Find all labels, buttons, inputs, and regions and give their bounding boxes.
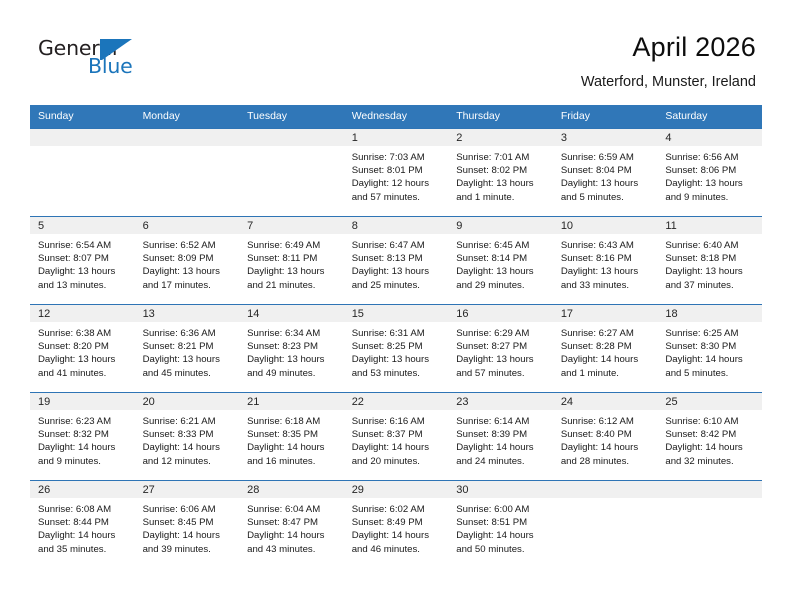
calendar-day-cell[interactable]: 30Sunrise: 6:00 AMSunset: 8:51 PMDayligh… bbox=[448, 481, 553, 569]
daylight-text: Daylight: 14 hours and 12 minutes. bbox=[143, 441, 234, 467]
sunset-text: Sunset: 8:30 PM bbox=[665, 340, 756, 353]
daylight-text: Daylight: 13 hours and 21 minutes. bbox=[247, 265, 338, 291]
day-details: Sunrise: 6:40 AMSunset: 8:18 PMDaylight:… bbox=[657, 234, 762, 292]
daylight-text: Daylight: 13 hours and 57 minutes. bbox=[456, 353, 547, 379]
calendar-day-cell[interactable]: 4Sunrise: 6:56 AMSunset: 8:06 PMDaylight… bbox=[657, 129, 762, 217]
day-number: 14 bbox=[239, 305, 344, 322]
weekday-header-tuesday: Tuesday bbox=[239, 105, 344, 129]
calendar-day-cell[interactable]: 29Sunrise: 6:02 AMSunset: 8:49 PMDayligh… bbox=[344, 481, 449, 569]
day-number: 1 bbox=[344, 129, 449, 146]
daylight-text: Daylight: 13 hours and 13 minutes. bbox=[38, 265, 129, 291]
weekday-header-wednesday: Wednesday bbox=[344, 105, 449, 129]
day-details: Sunrise: 6:54 AMSunset: 8:07 PMDaylight:… bbox=[30, 234, 135, 292]
sunrise-text: Sunrise: 6:23 AM bbox=[38, 415, 129, 428]
day-number: 21 bbox=[239, 393, 344, 410]
sunset-text: Sunset: 8:37 PM bbox=[352, 428, 443, 441]
daylight-text: Daylight: 13 hours and 25 minutes. bbox=[352, 265, 443, 291]
day-details: Sunrise: 6:10 AMSunset: 8:42 PMDaylight:… bbox=[657, 410, 762, 468]
day-number: 27 bbox=[135, 481, 240, 498]
day-number: 22 bbox=[344, 393, 449, 410]
daylight-text: Daylight: 13 hours and 17 minutes. bbox=[143, 265, 234, 291]
sunset-text: Sunset: 8:49 PM bbox=[352, 516, 443, 529]
calendar-day-cell-empty bbox=[553, 481, 658, 569]
weekday-header-row: Sunday Monday Tuesday Wednesday Thursday… bbox=[30, 105, 762, 129]
day-details: Sunrise: 6:29 AMSunset: 8:27 PMDaylight:… bbox=[448, 322, 553, 380]
sunset-text: Sunset: 8:39 PM bbox=[456, 428, 547, 441]
daylight-text: Daylight: 14 hours and 50 minutes. bbox=[456, 529, 547, 555]
sunrise-text: Sunrise: 7:01 AM bbox=[456, 151, 547, 164]
sunrise-text: Sunrise: 6:54 AM bbox=[38, 239, 129, 252]
day-details: Sunrise: 6:27 AMSunset: 8:28 PMDaylight:… bbox=[553, 322, 658, 380]
sunrise-text: Sunrise: 6:36 AM bbox=[143, 327, 234, 340]
calendar-week-row: 12Sunrise: 6:38 AMSunset: 8:20 PMDayligh… bbox=[30, 305, 762, 393]
calendar-day-cell-empty bbox=[30, 129, 135, 217]
day-number bbox=[135, 129, 240, 146]
day-details: Sunrise: 6:25 AMSunset: 8:30 PMDaylight:… bbox=[657, 322, 762, 380]
calendar-day-cell[interactable]: 21Sunrise: 6:18 AMSunset: 8:35 PMDayligh… bbox=[239, 393, 344, 481]
day-details: Sunrise: 6:36 AMSunset: 8:21 PMDaylight:… bbox=[135, 322, 240, 380]
calendar-day-cell[interactable]: 15Sunrise: 6:31 AMSunset: 8:25 PMDayligh… bbox=[344, 305, 449, 393]
day-number: 2 bbox=[448, 129, 553, 146]
calendar-day-cell[interactable]: 13Sunrise: 6:36 AMSunset: 8:21 PMDayligh… bbox=[135, 305, 240, 393]
calendar-day-cell[interactable]: 11Sunrise: 6:40 AMSunset: 8:18 PMDayligh… bbox=[657, 217, 762, 305]
day-number: 18 bbox=[657, 305, 762, 322]
calendar-day-cell[interactable]: 5Sunrise: 6:54 AMSunset: 8:07 PMDaylight… bbox=[30, 217, 135, 305]
sunset-text: Sunset: 8:33 PM bbox=[143, 428, 234, 441]
day-details: Sunrise: 6:49 AMSunset: 8:11 PMDaylight:… bbox=[239, 234, 344, 292]
day-number: 3 bbox=[553, 129, 658, 146]
sunset-text: Sunset: 8:02 PM bbox=[456, 164, 547, 177]
sunrise-text: Sunrise: 6:38 AM bbox=[38, 327, 129, 340]
sunrise-text: Sunrise: 6:16 AM bbox=[352, 415, 443, 428]
calendar-grid: Sunday Monday Tuesday Wednesday Thursday… bbox=[30, 105, 762, 568]
sunrise-text: Sunrise: 6:34 AM bbox=[247, 327, 338, 340]
sunset-text: Sunset: 8:20 PM bbox=[38, 340, 129, 353]
day-number bbox=[239, 129, 344, 146]
sunrise-text: Sunrise: 6:21 AM bbox=[143, 415, 234, 428]
daylight-text: Daylight: 13 hours and 9 minutes. bbox=[665, 177, 756, 203]
calendar-day-cell[interactable]: 24Sunrise: 6:12 AMSunset: 8:40 PMDayligh… bbox=[553, 393, 658, 481]
sunset-text: Sunset: 8:18 PM bbox=[665, 252, 756, 265]
sunrise-text: Sunrise: 6:59 AM bbox=[561, 151, 652, 164]
weekday-header-sunday: Sunday bbox=[30, 105, 135, 129]
calendar-page: General Blue April 2026 Waterford, Munst… bbox=[0, 0, 792, 612]
day-details: Sunrise: 6:08 AMSunset: 8:44 PMDaylight:… bbox=[30, 498, 135, 556]
calendar-day-cell[interactable]: 25Sunrise: 6:10 AMSunset: 8:42 PMDayligh… bbox=[657, 393, 762, 481]
day-details: Sunrise: 6:47 AMSunset: 8:13 PMDaylight:… bbox=[344, 234, 449, 292]
day-details: Sunrise: 6:45 AMSunset: 8:14 PMDaylight:… bbox=[448, 234, 553, 292]
weekday-header-saturday: Saturday bbox=[657, 105, 762, 129]
calendar-day-cell[interactable]: 27Sunrise: 6:06 AMSunset: 8:45 PMDayligh… bbox=[135, 481, 240, 569]
sunset-text: Sunset: 8:25 PM bbox=[352, 340, 443, 353]
day-number: 10 bbox=[553, 217, 658, 234]
day-number: 6 bbox=[135, 217, 240, 234]
calendar-day-cell[interactable]: 2Sunrise: 7:01 AMSunset: 8:02 PMDaylight… bbox=[448, 129, 553, 217]
sunset-text: Sunset: 8:06 PM bbox=[665, 164, 756, 177]
day-details: Sunrise: 6:21 AMSunset: 8:33 PMDaylight:… bbox=[135, 410, 240, 468]
sunset-text: Sunset: 8:28 PM bbox=[561, 340, 652, 353]
day-number: 15 bbox=[344, 305, 449, 322]
sunrise-text: Sunrise: 6:04 AM bbox=[247, 503, 338, 516]
day-details: Sunrise: 6:31 AMSunset: 8:25 PMDaylight:… bbox=[344, 322, 449, 380]
day-details: Sunrise: 6:12 AMSunset: 8:40 PMDaylight:… bbox=[553, 410, 658, 468]
day-details: Sunrise: 6:02 AMSunset: 8:49 PMDaylight:… bbox=[344, 498, 449, 556]
day-number: 7 bbox=[239, 217, 344, 234]
sunrise-text: Sunrise: 6:12 AM bbox=[561, 415, 652, 428]
sunset-text: Sunset: 8:14 PM bbox=[456, 252, 547, 265]
sunrise-text: Sunrise: 6:00 AM bbox=[456, 503, 547, 516]
calendar-day-cell[interactable]: 12Sunrise: 6:38 AMSunset: 8:20 PMDayligh… bbox=[30, 305, 135, 393]
day-number: 25 bbox=[657, 393, 762, 410]
calendar-day-cell[interactable]: 16Sunrise: 6:29 AMSunset: 8:27 PMDayligh… bbox=[448, 305, 553, 393]
day-number: 29 bbox=[344, 481, 449, 498]
sunrise-text: Sunrise: 6:47 AM bbox=[352, 239, 443, 252]
daylight-text: Daylight: 13 hours and 49 minutes. bbox=[247, 353, 338, 379]
day-number: 20 bbox=[135, 393, 240, 410]
day-number: 11 bbox=[657, 217, 762, 234]
sunset-text: Sunset: 8:51 PM bbox=[456, 516, 547, 529]
calendar-day-cell[interactable]: 19Sunrise: 6:23 AMSunset: 8:32 PMDayligh… bbox=[30, 393, 135, 481]
sunrise-text: Sunrise: 6:31 AM bbox=[352, 327, 443, 340]
weekday-header-friday: Friday bbox=[553, 105, 658, 129]
daylight-text: Daylight: 13 hours and 1 minute. bbox=[456, 177, 547, 203]
daylight-text: Daylight: 14 hours and 9 minutes. bbox=[38, 441, 129, 467]
calendar-body: 1Sunrise: 7:03 AMSunset: 8:01 PMDaylight… bbox=[30, 129, 762, 569]
day-number: 13 bbox=[135, 305, 240, 322]
sunrise-text: Sunrise: 6:18 AM bbox=[247, 415, 338, 428]
day-details: Sunrise: 6:38 AMSunset: 8:20 PMDaylight:… bbox=[30, 322, 135, 380]
sunrise-text: Sunrise: 6:25 AM bbox=[665, 327, 756, 340]
daylight-text: Daylight: 13 hours and 41 minutes. bbox=[38, 353, 129, 379]
day-details: Sunrise: 6:43 AMSunset: 8:16 PMDaylight:… bbox=[553, 234, 658, 292]
day-number: 5 bbox=[30, 217, 135, 234]
calendar-day-cell[interactable]: 14Sunrise: 6:34 AMSunset: 8:23 PMDayligh… bbox=[239, 305, 344, 393]
daylight-text: Daylight: 14 hours and 24 minutes. bbox=[456, 441, 547, 467]
calendar-day-cell[interactable]: 8Sunrise: 6:47 AMSunset: 8:13 PMDaylight… bbox=[344, 217, 449, 305]
day-number: 8 bbox=[344, 217, 449, 234]
calendar-day-cell[interactable]: 28Sunrise: 6:04 AMSunset: 8:47 PMDayligh… bbox=[239, 481, 344, 569]
sunset-text: Sunset: 8:35 PM bbox=[247, 428, 338, 441]
calendar-day-cell-empty bbox=[239, 129, 344, 217]
sunrise-text: Sunrise: 6:29 AM bbox=[456, 327, 547, 340]
day-number bbox=[553, 481, 658, 498]
day-number bbox=[30, 129, 135, 146]
sunset-text: Sunset: 8:07 PM bbox=[38, 252, 129, 265]
daylight-text: Daylight: 13 hours and 45 minutes. bbox=[143, 353, 234, 379]
sunrise-text: Sunrise: 7:03 AM bbox=[352, 151, 443, 164]
daylight-text: Daylight: 13 hours and 33 minutes. bbox=[561, 265, 652, 291]
day-details: Sunrise: 6:18 AMSunset: 8:35 PMDaylight:… bbox=[239, 410, 344, 468]
location-subtitle: Waterford, Munster, Ireland bbox=[581, 73, 756, 91]
calendar-day-cell[interactable]: 7Sunrise: 6:49 AMSunset: 8:11 PMDaylight… bbox=[239, 217, 344, 305]
sunrise-text: Sunrise: 6:40 AM bbox=[665, 239, 756, 252]
daylight-text: Daylight: 14 hours and 43 minutes. bbox=[247, 529, 338, 555]
day-details: Sunrise: 7:03 AMSunset: 8:01 PMDaylight:… bbox=[344, 146, 449, 204]
daylight-text: Daylight: 14 hours and 35 minutes. bbox=[38, 529, 129, 555]
calendar-day-cell[interactable]: 22Sunrise: 6:16 AMSunset: 8:37 PMDayligh… bbox=[344, 393, 449, 481]
day-details: Sunrise: 6:04 AMSunset: 8:47 PMDaylight:… bbox=[239, 498, 344, 556]
day-details: Sunrise: 6:56 AMSunset: 8:06 PMDaylight:… bbox=[657, 146, 762, 204]
calendar-week-row: 26Sunrise: 6:08 AMSunset: 8:44 PMDayligh… bbox=[30, 481, 762, 569]
sunset-text: Sunset: 8:45 PM bbox=[143, 516, 234, 529]
calendar-day-cell[interactable]: 1Sunrise: 7:03 AMSunset: 8:01 PMDaylight… bbox=[344, 129, 449, 217]
calendar-day-cell[interactable]: 9Sunrise: 6:45 AMSunset: 8:14 PMDaylight… bbox=[448, 217, 553, 305]
sunset-text: Sunset: 8:13 PM bbox=[352, 252, 443, 265]
sunset-text: Sunset: 8:40 PM bbox=[561, 428, 652, 441]
calendar-week-row: 1Sunrise: 7:03 AMSunset: 8:01 PMDaylight… bbox=[30, 129, 762, 217]
general-blue-logo[interactable]: General Blue bbox=[38, 36, 168, 88]
daylight-text: Daylight: 13 hours and 5 minutes. bbox=[561, 177, 652, 203]
sunset-text: Sunset: 8:47 PM bbox=[247, 516, 338, 529]
day-number: 28 bbox=[239, 481, 344, 498]
day-number: 23 bbox=[448, 393, 553, 410]
sunset-text: Sunset: 8:09 PM bbox=[143, 252, 234, 265]
sunrise-text: Sunrise: 6:10 AM bbox=[665, 415, 756, 428]
daylight-text: Daylight: 14 hours and 32 minutes. bbox=[665, 441, 756, 467]
calendar-day-cell[interactable]: 6Sunrise: 6:52 AMSunset: 8:09 PMDaylight… bbox=[135, 217, 240, 305]
sunrise-text: Sunrise: 6:14 AM bbox=[456, 415, 547, 428]
daylight-text: Daylight: 14 hours and 1 minute. bbox=[561, 353, 652, 379]
daylight-text: Daylight: 12 hours and 57 minutes. bbox=[352, 177, 443, 203]
day-number: 16 bbox=[448, 305, 553, 322]
day-details: Sunrise: 6:34 AMSunset: 8:23 PMDaylight:… bbox=[239, 322, 344, 380]
sunset-text: Sunset: 8:32 PM bbox=[38, 428, 129, 441]
day-details: Sunrise: 6:00 AMSunset: 8:51 PMDaylight:… bbox=[448, 498, 553, 556]
sunrise-text: Sunrise: 6:02 AM bbox=[352, 503, 443, 516]
daylight-text: Daylight: 14 hours and 46 minutes. bbox=[352, 529, 443, 555]
calendar-day-cell[interactable]: 17Sunrise: 6:27 AMSunset: 8:28 PMDayligh… bbox=[553, 305, 658, 393]
day-details: Sunrise: 6:06 AMSunset: 8:45 PMDaylight:… bbox=[135, 498, 240, 556]
day-details: Sunrise: 7:01 AMSunset: 8:02 PMDaylight:… bbox=[448, 146, 553, 204]
sunset-text: Sunset: 8:44 PM bbox=[38, 516, 129, 529]
title-block: April 2026 Waterford, Munster, Ireland bbox=[581, 30, 756, 91]
sunrise-text: Sunrise: 6:52 AM bbox=[143, 239, 234, 252]
daylight-text: Daylight: 14 hours and 39 minutes. bbox=[143, 529, 234, 555]
sunrise-text: Sunrise: 6:27 AM bbox=[561, 327, 652, 340]
sunrise-text: Sunrise: 6:56 AM bbox=[665, 151, 756, 164]
sunset-text: Sunset: 8:23 PM bbox=[247, 340, 338, 353]
sunset-text: Sunset: 8:42 PM bbox=[665, 428, 756, 441]
calendar-day-cell-empty bbox=[135, 129, 240, 217]
sunset-text: Sunset: 8:16 PM bbox=[561, 252, 652, 265]
logo-text-blue: Blue bbox=[88, 54, 133, 78]
sunset-text: Sunset: 8:04 PM bbox=[561, 164, 652, 177]
sunset-text: Sunset: 8:11 PM bbox=[247, 252, 338, 265]
day-details: Sunrise: 6:23 AMSunset: 8:32 PMDaylight:… bbox=[30, 410, 135, 468]
day-number: 24 bbox=[553, 393, 658, 410]
sunset-text: Sunset: 8:21 PM bbox=[143, 340, 234, 353]
day-number: 17 bbox=[553, 305, 658, 322]
sunset-text: Sunset: 8:01 PM bbox=[352, 164, 443, 177]
sunrise-text: Sunrise: 6:43 AM bbox=[561, 239, 652, 252]
page-title: April 2026 bbox=[581, 30, 756, 64]
weekday-header-monday: Monday bbox=[135, 105, 240, 129]
calendar-day-cell[interactable]: 18Sunrise: 6:25 AMSunset: 8:30 PMDayligh… bbox=[657, 305, 762, 393]
calendar-day-cell-empty bbox=[657, 481, 762, 569]
day-number: 30 bbox=[448, 481, 553, 498]
calendar-day-cell[interactable]: 20Sunrise: 6:21 AMSunset: 8:33 PMDayligh… bbox=[135, 393, 240, 481]
sunrise-text: Sunrise: 6:49 AM bbox=[247, 239, 338, 252]
calendar-day-cell[interactable]: 3Sunrise: 6:59 AMSunset: 8:04 PMDaylight… bbox=[553, 129, 658, 217]
calendar-day-cell[interactable]: 10Sunrise: 6:43 AMSunset: 8:16 PMDayligh… bbox=[553, 217, 658, 305]
day-details: Sunrise: 6:14 AMSunset: 8:39 PMDaylight:… bbox=[448, 410, 553, 468]
calendar-week-row: 19Sunrise: 6:23 AMSunset: 8:32 PMDayligh… bbox=[30, 393, 762, 481]
daylight-text: Daylight: 14 hours and 5 minutes. bbox=[665, 353, 756, 379]
day-number: 19 bbox=[30, 393, 135, 410]
weekday-header-thursday: Thursday bbox=[448, 105, 553, 129]
day-details: Sunrise: 6:52 AMSunset: 8:09 PMDaylight:… bbox=[135, 234, 240, 292]
daylight-text: Daylight: 13 hours and 53 minutes. bbox=[352, 353, 443, 379]
sunrise-text: Sunrise: 6:08 AM bbox=[38, 503, 129, 516]
calendar-day-cell[interactable]: 23Sunrise: 6:14 AMSunset: 8:39 PMDayligh… bbox=[448, 393, 553, 481]
daylight-text: Daylight: 14 hours and 20 minutes. bbox=[352, 441, 443, 467]
sunrise-text: Sunrise: 6:45 AM bbox=[456, 239, 547, 252]
day-details: Sunrise: 6:59 AMSunset: 8:04 PMDaylight:… bbox=[553, 146, 658, 204]
day-number: 12 bbox=[30, 305, 135, 322]
daylight-text: Daylight: 14 hours and 16 minutes. bbox=[247, 441, 338, 467]
calendar-week-row: 5Sunrise: 6:54 AMSunset: 8:07 PMDaylight… bbox=[30, 217, 762, 305]
calendar-day-cell[interactable]: 26Sunrise: 6:08 AMSunset: 8:44 PMDayligh… bbox=[30, 481, 135, 569]
day-number: 4 bbox=[657, 129, 762, 146]
daylight-text: Daylight: 13 hours and 37 minutes. bbox=[665, 265, 756, 291]
page-header: General Blue April 2026 Waterford, Munst… bbox=[0, 0, 792, 100]
sunrise-text: Sunrise: 6:06 AM bbox=[143, 503, 234, 516]
day-details: Sunrise: 6:16 AMSunset: 8:37 PMDaylight:… bbox=[344, 410, 449, 468]
day-number bbox=[657, 481, 762, 498]
daylight-text: Daylight: 14 hours and 28 minutes. bbox=[561, 441, 652, 467]
day-number: 26 bbox=[30, 481, 135, 498]
day-number: 9 bbox=[448, 217, 553, 234]
daylight-text: Daylight: 13 hours and 29 minutes. bbox=[456, 265, 547, 291]
sunset-text: Sunset: 8:27 PM bbox=[456, 340, 547, 353]
